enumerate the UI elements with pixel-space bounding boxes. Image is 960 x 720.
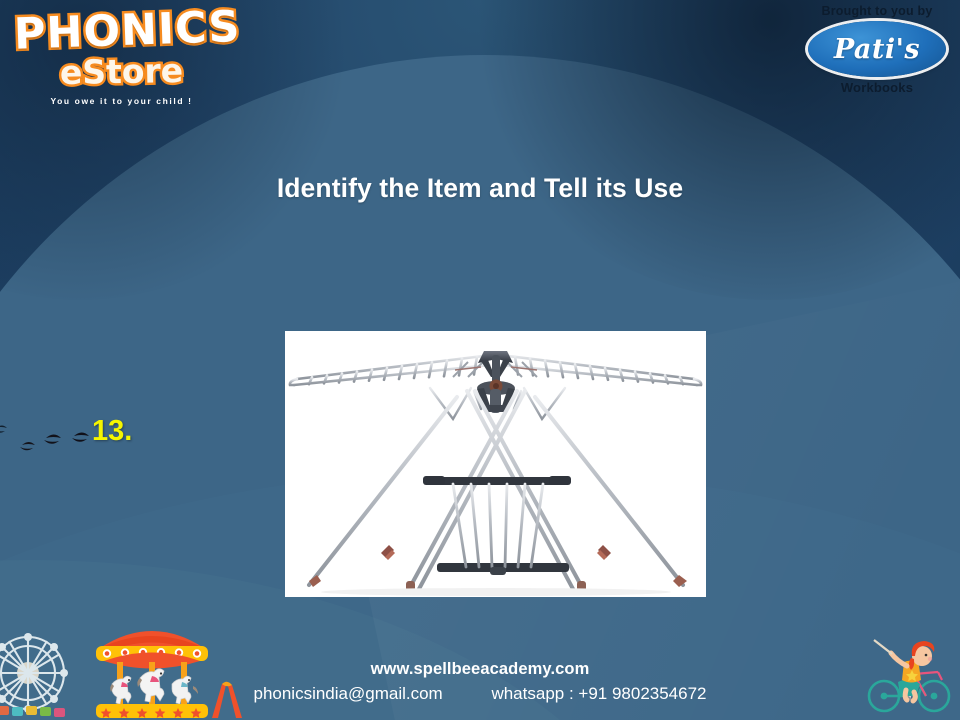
logo-word-estore: eStore <box>14 52 230 91</box>
footer-contact-row: phonicsindia@gmail.com whatsapp : +91 98… <box>0 682 960 706</box>
question-number-label: 13. <box>92 415 132 448</box>
page-title: Identify the Item and Tell its Use <box>0 173 960 204</box>
footer-email[interactable]: phonicsindia@gmail.com <box>253 684 442 703</box>
brought-to-you-by-label: Brought to you by <box>802 4 952 19</box>
product-image-clothes-drying-rack <box>285 331 706 597</box>
clothes-drying-rack-photo <box>285 331 706 597</box>
patis-workbooks-logo: Brought to you by Pati's Workbooks <box>802 4 952 114</box>
footer-website[interactable]: www.spellbeeacademy.com <box>0 658 960 680</box>
patis-brand-name: Pati's <box>834 34 920 65</box>
patis-oval-badge: Pati's <box>808 21 946 77</box>
footer-whatsapp[interactable]: whatsapp : +91 9802354672 <box>491 684 706 703</box>
workbooks-label: Workbooks <box>802 80 952 95</box>
slide-canvas: PHONICS eStore You owe it to your child … <box>0 0 960 720</box>
logo-word-phonics: PHONICS <box>13 6 229 56</box>
footer-contact-block: www.spellbeeacademy.com phonicsindia@gma… <box>0 658 960 706</box>
phonics-estore-logo: PHONICS eStore You owe it to your child … <box>14 10 229 128</box>
flying-birds-silhouette-icon <box>0 418 104 460</box>
logo-tagline: You owe it to your child ! <box>14 96 229 106</box>
